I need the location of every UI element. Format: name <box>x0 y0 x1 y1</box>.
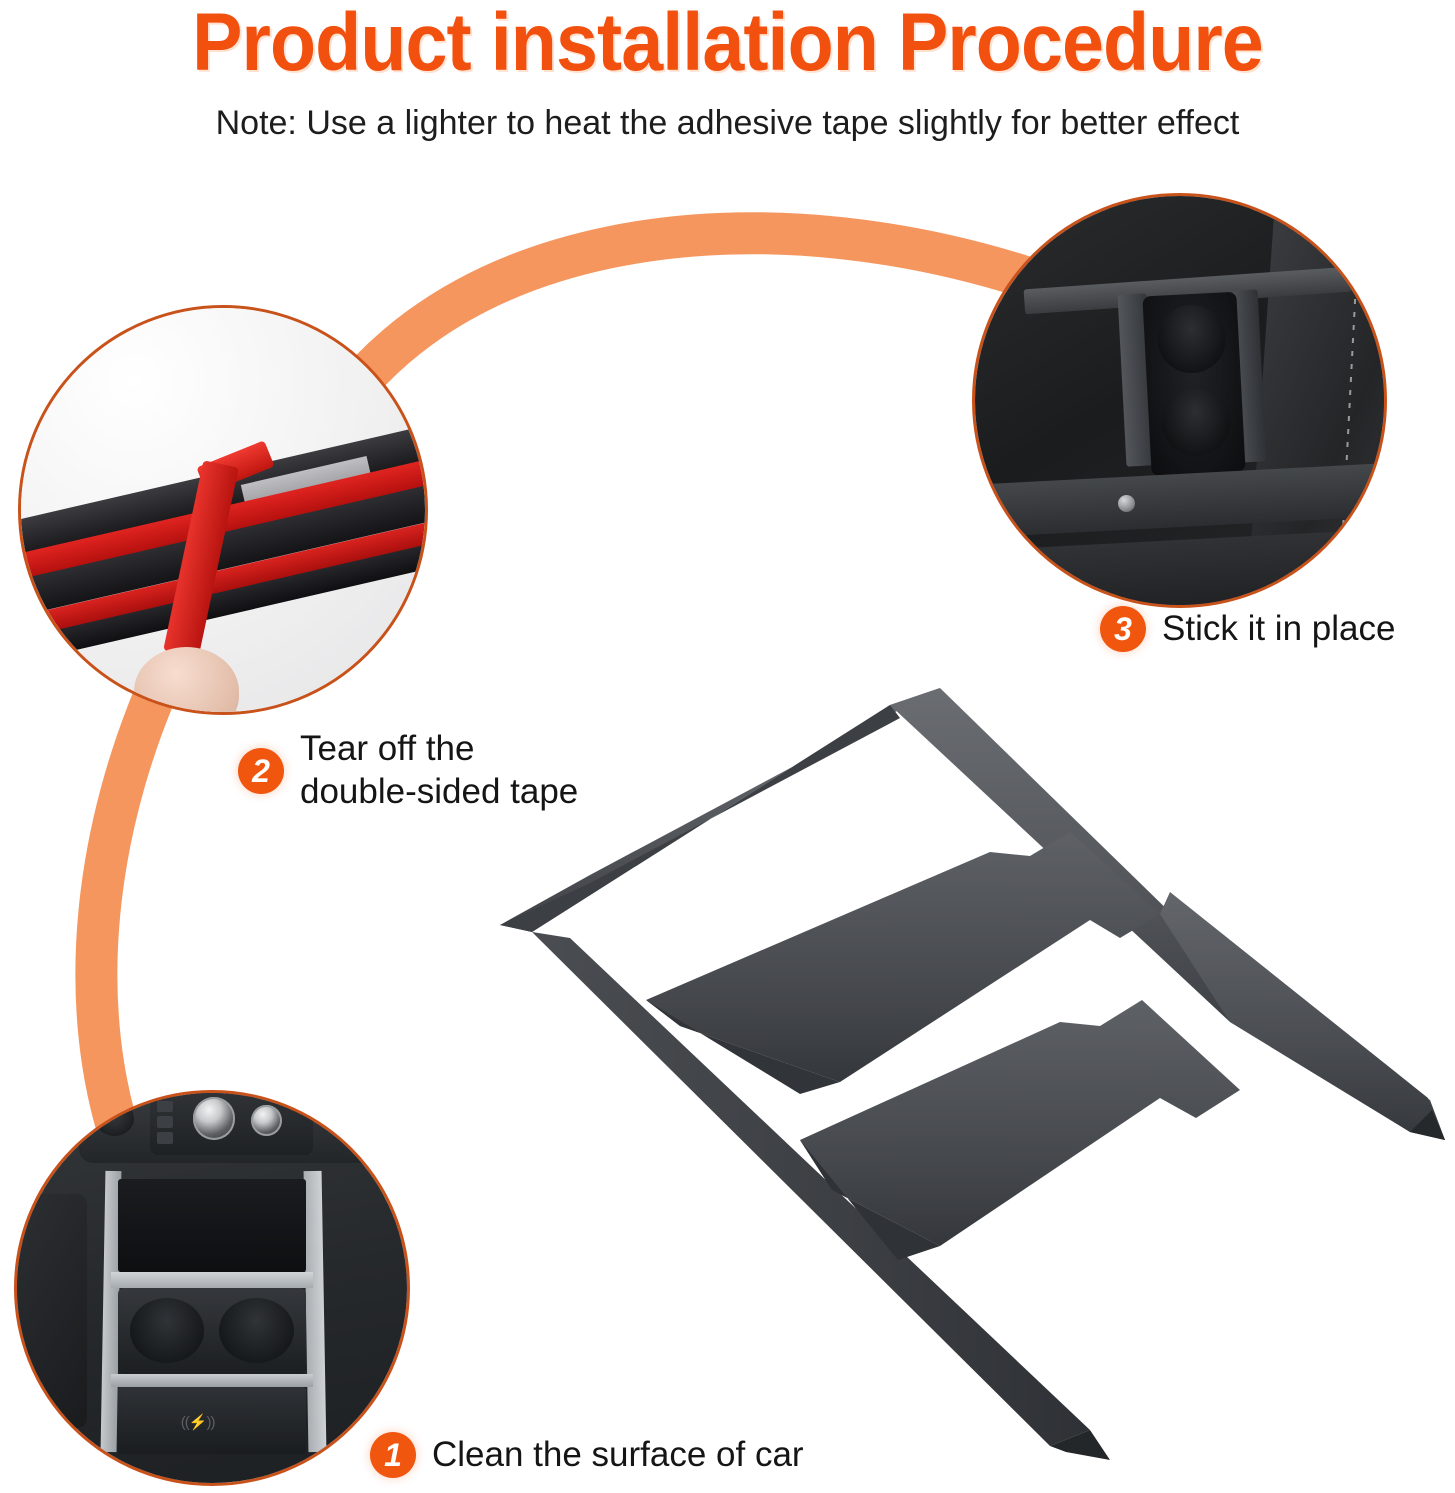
driver-seat-edge <box>14 1194 87 1428</box>
step-3-badge: 3 <box>1100 606 1146 652</box>
step-2: 2 Tear off the double-sided tape <box>238 728 578 813</box>
cigarette-lighter-socket <box>95 1101 134 1136</box>
cup-holder-left <box>130 1298 205 1363</box>
cup-holder-well <box>1142 292 1245 477</box>
console-switch-3 <box>157 1132 173 1144</box>
cup-holder-trim-upper <box>111 1272 314 1288</box>
console-button <box>1118 495 1135 512</box>
arrow-console-to-tape <box>96 650 175 1160</box>
step-3-label: Stick it in place <box>1162 608 1395 651</box>
step-1-badge: 1 <box>370 1432 416 1478</box>
cup-holder-rear <box>1160 386 1231 458</box>
cup-holder-area <box>118 1288 305 1374</box>
step-3: 3 Stick it in place <box>1100 606 1395 652</box>
photo-original-console: ((⚡)) <box>14 1090 410 1486</box>
wireless-charging-icon: ((⚡)) <box>181 1413 215 1431</box>
console-switch-2 <box>157 1116 173 1128</box>
page-title: Product installation Procedure <box>58 0 1397 90</box>
volume-knob <box>251 1105 282 1136</box>
console-storage-tray <box>118 1179 305 1273</box>
cup-holder-front <box>1156 303 1227 375</box>
page-note: Note: Use a lighter to heat the adhesive… <box>0 104 1455 143</box>
console-switch-1 <box>157 1101 173 1113</box>
cup-holder-trim-lower <box>111 1374 314 1388</box>
installation-procedure-page: Product installation Procedure Note: Use… <box>0 0 1455 1493</box>
product-console-trim-frame <box>470 670 1455 1460</box>
step-2-badge: 2 <box>238 748 284 794</box>
step-1: 1 Clean the surface of car <box>370 1432 804 1478</box>
photo-installed-trim <box>972 193 1387 608</box>
drive-mode-knob <box>193 1097 236 1140</box>
photo-tape-peel <box>18 305 428 715</box>
step-2-label: Tear off the double-sided tape <box>300 728 578 813</box>
step-1-label: Clean the surface of car <box>432 1434 804 1477</box>
cup-holder-right <box>219 1298 294 1363</box>
